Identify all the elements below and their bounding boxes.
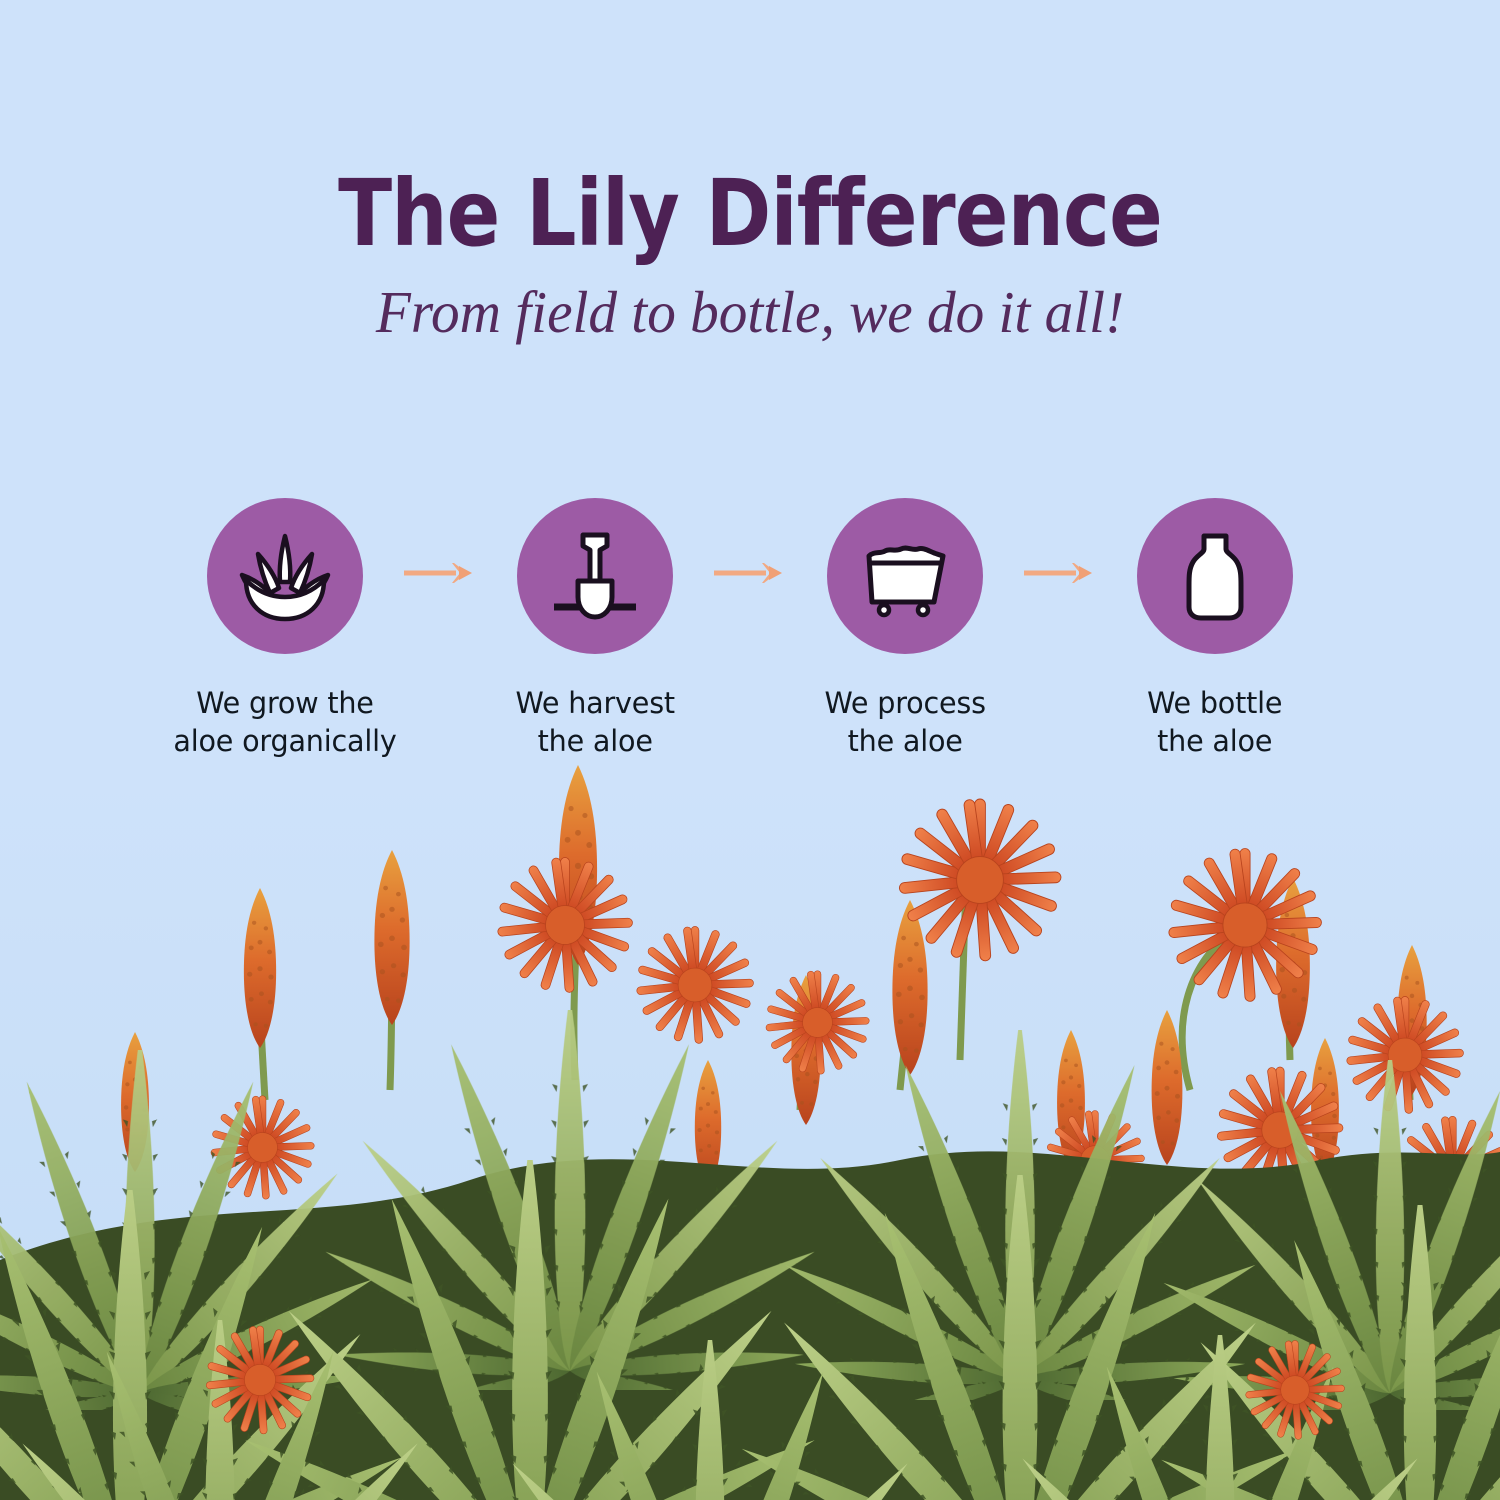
arrow-right-icon-2	[702, 560, 798, 586]
step-grow-label: We grow the aloe organically	[140, 684, 431, 760]
step-process: We process the aloe	[798, 498, 1012, 760]
page-subtitle: From field to bottle, we do it all!	[23, 260, 1478, 344]
step-process-badge	[827, 498, 983, 654]
step-process-label: We process the aloe	[824, 684, 985, 760]
bottle-icon	[1163, 524, 1267, 628]
arrow-right-icon-1	[392, 560, 488, 586]
step-harvest-badge	[517, 498, 673, 654]
aloe-plant-icon	[229, 520, 341, 632]
infographic-page: The Lily Difference From field to bottle…	[0, 0, 1500, 1500]
step-bottle: We bottle the aloe	[1108, 498, 1322, 760]
page-title: The Lily Difference	[105, 0, 1395, 260]
step-bottle-label: We bottle the aloe	[1147, 684, 1282, 760]
shovel-icon	[542, 523, 648, 629]
process-steps: We grow the aloe organically	[0, 498, 1500, 760]
process-cart-icon	[849, 520, 961, 632]
step-harvest: We harvest the aloe	[488, 498, 702, 760]
arrow-right-icon-3	[1012, 560, 1108, 586]
step-grow-badge	[207, 498, 363, 654]
header: The Lily Difference From field to bottle…	[0, 0, 1500, 344]
step-harvest-label: We harvest the aloe	[515, 684, 674, 760]
aloe-field-photo	[0, 760, 1500, 1500]
step-grow: We grow the aloe organically	[178, 498, 392, 760]
step-bottle-badge	[1137, 498, 1293, 654]
